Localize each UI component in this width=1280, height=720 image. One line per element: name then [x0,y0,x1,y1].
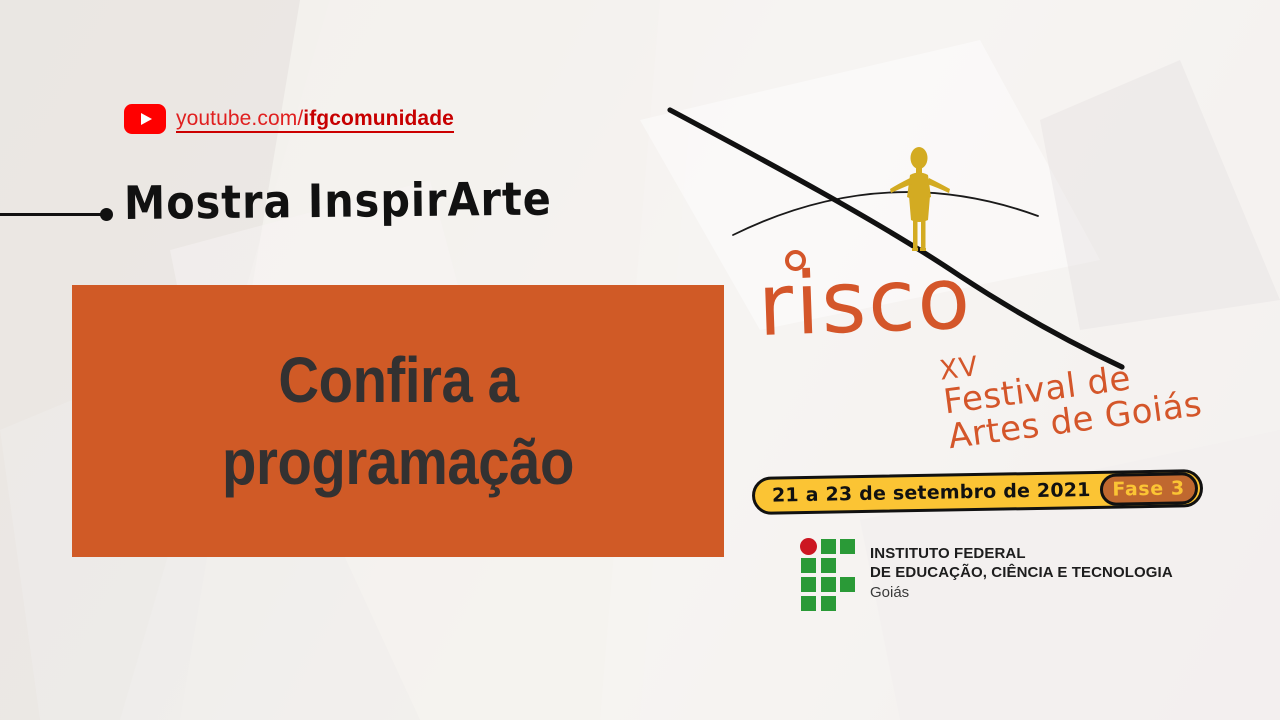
ifg-square [801,596,816,611]
ifg-square [821,539,836,554]
date-badge: 21 a 23 de setembro de 2021 Fase 3 [752,469,1203,515]
ifg-square [821,577,836,592]
ifg-red-dot-icon [800,538,817,555]
ifg-square [840,539,855,554]
ifg-square [821,558,836,573]
ifg-square [801,558,816,573]
youtube-link[interactable]: youtube.com/ifgcomunidade [124,104,454,134]
phase-label: Fase 3 [1103,477,1194,501]
ifg-logo: INSTITUTO FEDERAL DE EDUCAÇÃO, CIÊNCIA E… [800,538,1173,612]
ifg-line-2: DE EDUCAÇÃO, CIÊNCIA E TECNOLOGIA [870,564,1173,583]
left-rule-dot [100,208,113,221]
cta-panel[interactable]: Confira a programação [72,285,724,557]
ifg-square [840,577,855,592]
page-title: Mostra InspirArte [124,172,552,230]
cta-line-2: programação [222,423,574,501]
cta-line-1: Confira a [278,341,518,419]
event-dates: 21 a 23 de setembro de 2021 [772,479,1100,507]
youtube-play-icon [124,104,166,134]
left-rule [0,213,104,216]
ifg-square [801,577,816,592]
ifg-logo-text: INSTITUTO FEDERAL DE EDUCAÇÃO, CIÊNCIA E… [870,538,1173,603]
youtube-url-prefix: youtube.com/ [176,107,303,133]
youtube-url-text: youtube.com/ifgcomunidade [176,107,454,131]
ifg-line-3: Goiás [870,583,1173,603]
ifg-square [821,596,836,611]
ifg-logo-mark [800,538,858,612]
phase-badge: Fase 3 [1099,472,1198,506]
ifg-line-1: INSTITUTO FEDERAL [870,545,1173,564]
youtube-url-handle: ifgcomunidade [303,107,454,133]
